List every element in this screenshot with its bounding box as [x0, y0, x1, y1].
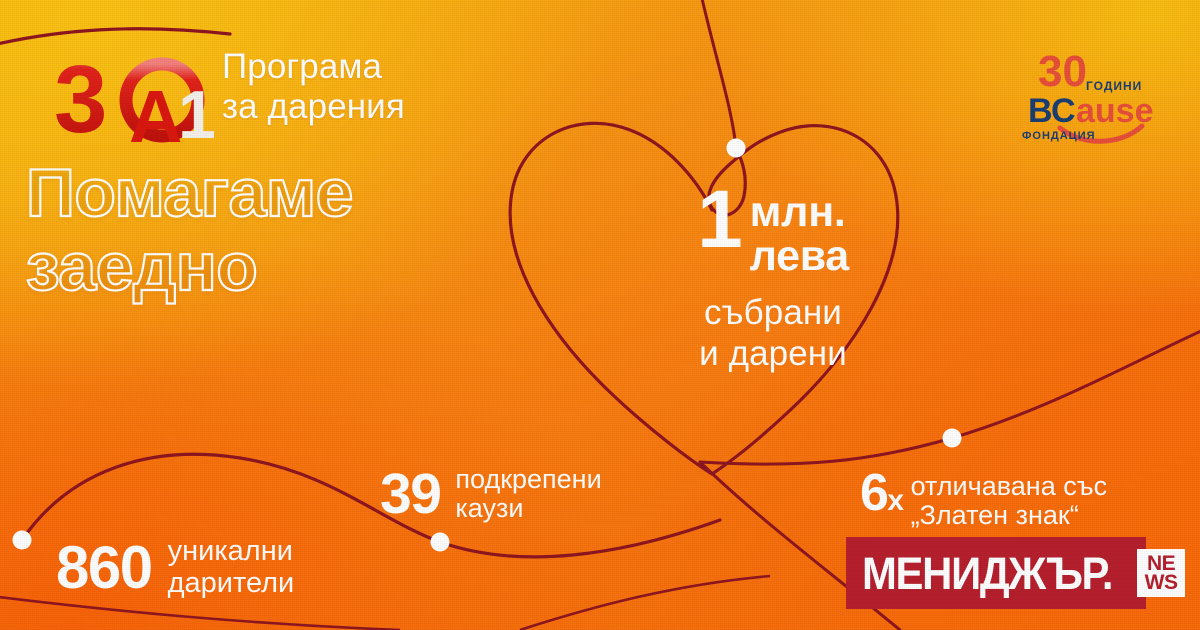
program-title-line1: Програма [222, 47, 522, 87]
hero-headline-line1: Помагаме [26, 155, 353, 231]
stat-donors-label-line2: дарители [168, 568, 295, 600]
center-statistic-subtitle-line1: събрани [648, 292, 898, 333]
program-title: Програма за дарения [222, 47, 522, 126]
center-statistic-subtitle-line2: и дарени [648, 333, 898, 374]
stat-gold-sign-number: 6х [860, 470, 903, 518]
bcause-name-c: C [1051, 92, 1076, 130]
stat-gold-sign: 6х отличавана със „Златен знак“ [860, 470, 1107, 531]
a1-30-logo[interactable]: 3 A 1 [52, 42, 220, 154]
center-statistic-amount: 1 млн. лева [648, 185, 898, 279]
stat-causes-label-line2: каузи [455, 494, 601, 523]
stat-gold-sign-suffix: х [887, 484, 902, 517]
program-title-line2: за дарения [222, 87, 522, 127]
a1-logo-letter-a: A [129, 75, 182, 154]
bcause-years-word: ГОДИНИ [1086, 79, 1142, 93]
stat-causes-label-line1: подкрепени [455, 465, 601, 494]
a1-logo-digit-1: 1 [178, 77, 216, 153]
causes-line-dot [431, 533, 450, 552]
stat-causes-number: 39 [380, 466, 440, 523]
manager-news-logo[interactable]: МЕНИДЖЪР. NE WS [846, 537, 1146, 609]
stat-donors-number: 860 [56, 538, 152, 598]
stat-donors: 860 уникални дарители [56, 536, 294, 599]
news-badge: NE WS [1137, 549, 1185, 597]
donors-line-dot [13, 531, 32, 550]
manager-news-wordmark: МЕНИДЖЪР. [862, 551, 1112, 596]
stat-gold-sign-label-line2: „Златен знак“ [911, 501, 1107, 530]
gold-line-dot [943, 429, 962, 448]
heart-loop-dot [727, 139, 746, 158]
hero-headline-line2: заедно [26, 234, 586, 301]
stat-gold-sign-count: 6 [860, 464, 887, 522]
poster-canvas: 3 A 1 Програма за дарения Помагаме заедн… [0, 0, 1200, 630]
center-statistic: 1 млн. лева събрани и дарени [648, 185, 898, 374]
stat-gold-sign-label: отличавана със „Златен знак“ [911, 472, 1107, 531]
stat-gold-sign-label-line1: отличавана със [911, 472, 1107, 501]
stat-donors-label: уникални дарители [168, 536, 295, 599]
bcause-subtitle: ФОНДАЦИЯ [1022, 130, 1096, 142]
stat-causes: 39 подкрепени каузи [380, 465, 602, 524]
bcause-logo[interactable]: 30 ГОДИНИ B C ause ФОНДАЦИЯ [1020, 44, 1170, 144]
hero-headline: Помагаме заедно [26, 160, 586, 302]
bcause-years-number: 30 [1038, 47, 1087, 96]
center-statistic-number: 1 [697, 185, 741, 256]
stat-causes-label: подкрепени каузи [455, 465, 601, 524]
bcause-name-b: B [1028, 92, 1053, 130]
news-badge-line2: WS [1145, 573, 1178, 592]
center-statistic-unit-line1: млн. [750, 191, 846, 235]
center-statistic-subtitle: събрани и дарени [648, 292, 898, 375]
center-statistic-unit-line2: лева [750, 235, 849, 279]
stat-donors-label-line1: уникални [168, 536, 295, 568]
a1-logo-30-digit-3: 3 [54, 46, 107, 153]
